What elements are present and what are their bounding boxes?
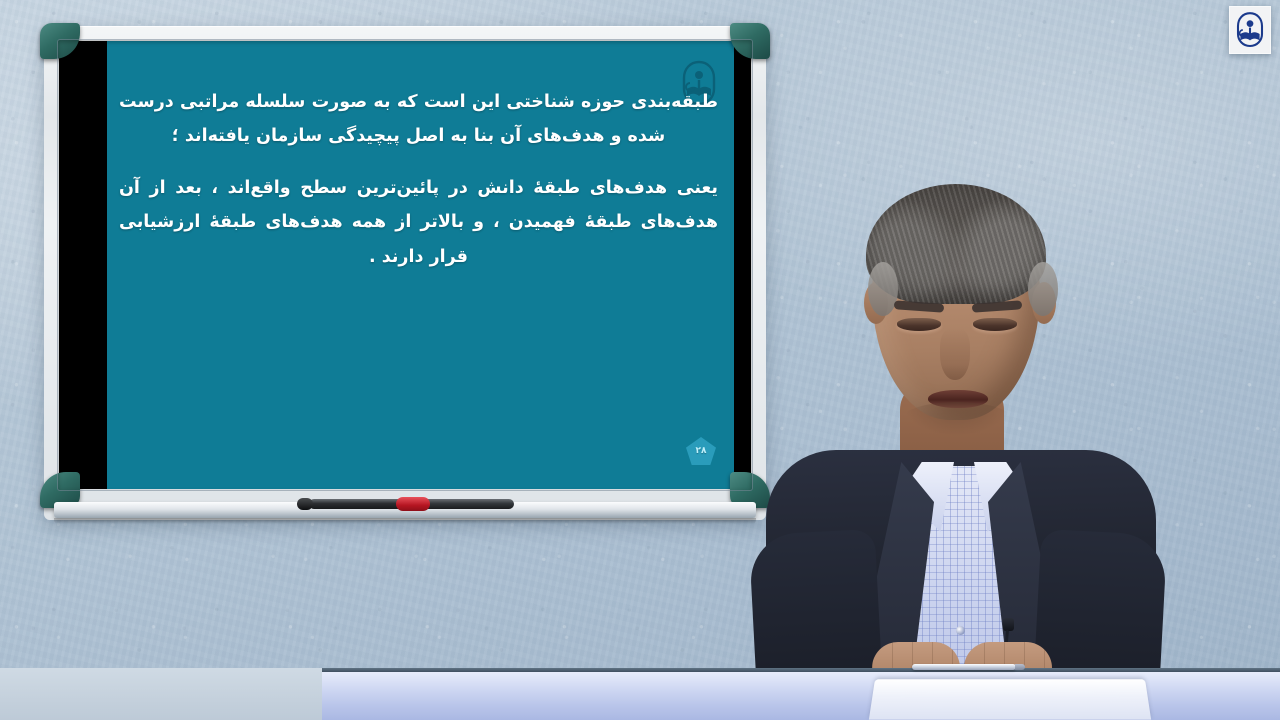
slide-page-number-badge: ۲۸ (686, 437, 716, 465)
video-frame: طبقه‌بندی حوزه شناختی این است که به صورت… (0, 0, 1280, 720)
nose (940, 328, 970, 380)
eye-right (973, 318, 1017, 331)
pen (912, 664, 1016, 670)
whiteboard: طبقه‌بندی حوزه شناختی این است که به صورت… (44, 26, 766, 520)
chin-shadow (902, 402, 1012, 436)
temple-right (1028, 262, 1058, 316)
slide-paragraph-1: طبقه‌بندی حوزه شناختی این است که به صورت… (119, 85, 718, 153)
tray-shadow (54, 518, 756, 524)
university-emblem-icon (1233, 10, 1267, 50)
shirt-button (956, 626, 965, 635)
whiteboard-surface: طبقه‌بندی حوزه شناختی این است که به صورت… (59, 41, 751, 489)
red-marker (414, 499, 514, 509)
station-logo (1229, 6, 1271, 54)
slide-paragraph-2: یعنی هدف‌های طبقهٔ دانش در پائین‌ترین سط… (119, 171, 718, 273)
presentation-slide: طبقه‌بندی حوزه شناختی این است که به صورت… (107, 41, 734, 489)
desk-side-panel (0, 668, 322, 720)
eye-left (897, 318, 941, 331)
lapel-microphone-icon (1003, 618, 1014, 631)
slide-text-block: طبقه‌بندی حوزه شناختی این است که به صورت… (119, 85, 718, 274)
presenter (760, 150, 1160, 720)
temple-left (868, 262, 898, 316)
papers (869, 679, 1151, 719)
whiteboard-marker-tray (54, 502, 756, 518)
